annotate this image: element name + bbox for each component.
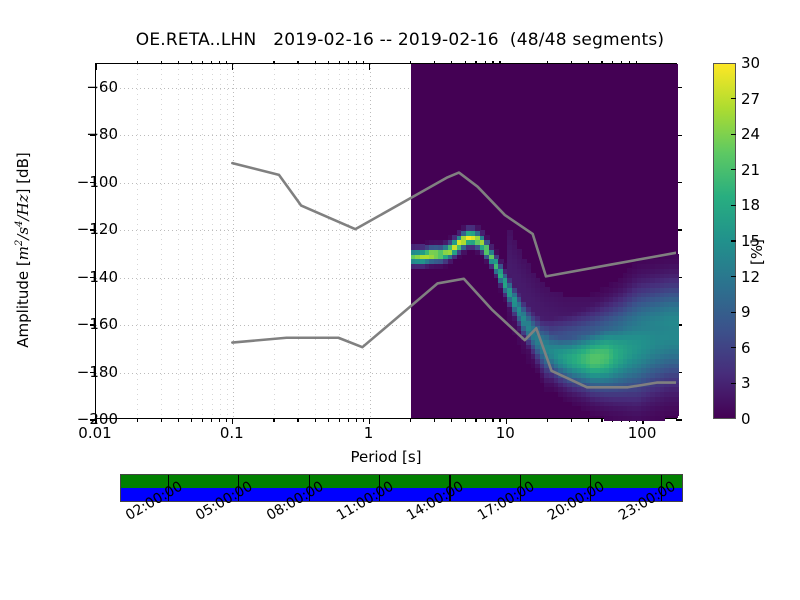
x-axis-minor-tick — [475, 418, 476, 422]
x-axis-minor-tick — [161, 418, 162, 422]
colorbar-tick-label: 6 — [741, 339, 751, 357]
x-axis-minor-tick — [273, 418, 274, 422]
x-axis-tick-label: 100 — [628, 424, 657, 442]
x-axis-minor-tick — [465, 418, 466, 422]
x-axis-tick-label: 1 — [364, 424, 374, 442]
y-axis-tick-label: −140 — [77, 268, 118, 286]
colorbar-tick-mark — [731, 98, 736, 99]
colorbar-tick-label: 21 — [741, 161, 760, 179]
x-axis-minor-tick — [499, 418, 500, 422]
noise-model-nlnm — [232, 279, 676, 387]
colorbar-label: [%] — [748, 207, 766, 297]
colorbar-tick-label: 0 — [741, 410, 751, 428]
colorbar-tick-mark — [731, 134, 736, 135]
colorbar-tick-label: 9 — [741, 303, 751, 321]
x-axis-minor-tick — [226, 418, 227, 422]
colorbar-tick-mark — [731, 205, 736, 206]
x-axis-minor-tick — [348, 418, 349, 422]
x-axis-minor-tick — [434, 418, 435, 422]
colorbar-tick-label: 24 — [741, 125, 760, 143]
page-title: OE.RETA..LHN 2019-02-16 -- 2019-02-16 (4… — [0, 30, 800, 50]
x-axis-tick-label: 0.01 — [78, 424, 111, 442]
y-axis-label-prefix: Amplitude [ — [14, 260, 32, 348]
noise-model-nhnm — [232, 163, 676, 276]
y-axis-tick-label: −80 — [86, 125, 118, 143]
x-axis-minor-tick — [363, 418, 364, 422]
y-axis-tick-label: −180 — [77, 363, 118, 381]
x-axis-minor-tick — [356, 418, 357, 422]
y-axis-label-slash2: / — [14, 215, 32, 220]
x-axis-minor-tick — [547, 418, 548, 422]
y-axis-tick-mark — [676, 419, 682, 420]
colorbar-tick-mark — [731, 347, 736, 348]
x-axis-tick-label: 10 — [496, 424, 515, 442]
y-axis-tick-label: −160 — [77, 315, 118, 333]
x-axis-minor-tick — [202, 418, 203, 422]
x-axis-minor-tick — [315, 418, 316, 422]
x-axis-minor-tick — [191, 418, 192, 422]
y-axis-label-math-den: s — [14, 227, 32, 235]
x-axis-minor-tick — [211, 418, 212, 422]
x-axis-minor-tick — [588, 418, 589, 422]
x-axis-minor-tick — [178, 418, 179, 422]
y-axis-label-math-hz: Hz — [14, 194, 32, 215]
x-axis-tick-label: 0.1 — [220, 424, 244, 442]
x-axis-minor-tick — [137, 418, 138, 422]
x-axis-minor-tick — [219, 418, 220, 422]
y-axis-label-suffix: ] [dB] — [14, 152, 32, 194]
colorbar-tick-label: 27 — [741, 90, 760, 108]
x-axis-minor-tick — [410, 418, 411, 422]
x-axis-minor-tick — [485, 418, 486, 422]
y-axis-tick-label: −60 — [86, 78, 118, 96]
x-axis-minor-tick — [601, 418, 602, 422]
x-axis-minor-tick — [339, 418, 340, 422]
colorbar-tick-mark — [731, 312, 736, 313]
colorbar-tick-mark — [731, 383, 736, 384]
colorbar-tick-mark — [731, 169, 736, 170]
plot-axes — [95, 63, 677, 419]
y-axis-label-math-num: m — [14, 246, 32, 260]
x-axis-minor-tick — [451, 418, 452, 422]
y-axis-label-math-num-sup: 2 — [14, 240, 25, 246]
colorbar-tick-mark — [731, 276, 736, 277]
x-axis-label: Period [s] — [95, 448, 677, 466]
y-axis-label-slash1: / — [14, 235, 32, 240]
x-axis-minor-tick — [297, 418, 298, 422]
x-axis-minor-tick — [571, 418, 572, 422]
x-axis-minor-tick — [328, 418, 329, 422]
y-axis-label-math-den-sup: 4 — [14, 220, 25, 226]
noise-model-curves — [96, 64, 676, 418]
y-axis-tick-label: −120 — [77, 220, 118, 238]
y-axis-tick-label: −100 — [77, 173, 118, 191]
colorbar-tick-mark — [731, 240, 736, 241]
x-axis-minor-tick — [492, 418, 493, 422]
y-axis-label: Amplitude [m2/s4/Hz] [dB] — [14, 85, 32, 415]
colorbar-tick-label: 30 — [741, 54, 760, 72]
ppsd-figure: OE.RETA..LHN 2019-02-16 -- 2019-02-16 (4… — [0, 0, 800, 600]
colorbar-tick-label: 3 — [741, 374, 751, 392]
